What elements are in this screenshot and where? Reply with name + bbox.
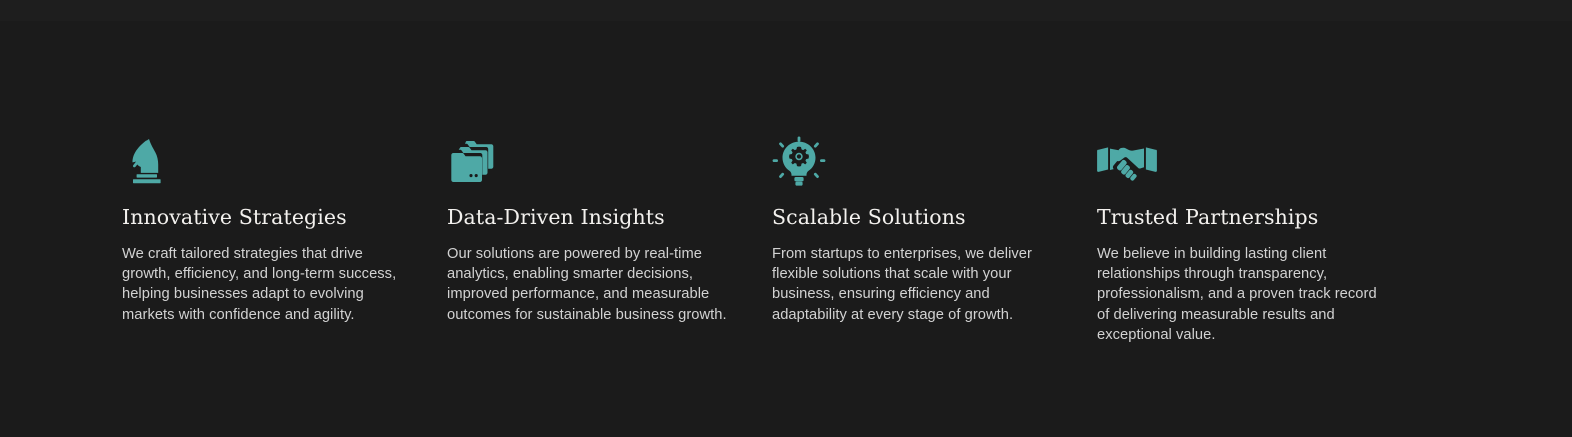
- top-accent-band: [0, 0, 1572, 21]
- feature-card-data-driven-insights: Data-Driven Insights Our solutions are p…: [447, 138, 732, 325]
- feature-description: We believe in building lasting client re…: [1097, 244, 1382, 346]
- features-section: Innovative Strategies We craft tailored …: [0, 0, 1572, 437]
- stacked-folders-icon: [447, 138, 732, 186]
- feature-description: Our solutions are powered by real-time a…: [447, 244, 732, 326]
- feature-description: From startups to enterprises, we deliver…: [772, 244, 1057, 326]
- feature-card-scalable-solutions: Scalable Solutions From startups to ente…: [772, 138, 1057, 325]
- feature-card-trusted-partnerships: Trusted Partnerships We believe in build…: [1097, 138, 1382, 346]
- feature-title: Data-Driven Insights: [447, 206, 732, 230]
- feature-description: We craft tailored strategies that drive …: [122, 244, 407, 326]
- feature-title: Innovative Strategies: [122, 206, 407, 230]
- feature-card-innovative-strategies: Innovative Strategies We craft tailored …: [122, 138, 407, 325]
- chess-knight-icon: [122, 138, 407, 186]
- lightbulb-gear-icon: [772, 138, 1057, 186]
- feature-cards-row: Innovative Strategies We craft tailored …: [122, 138, 1452, 346]
- feature-title: Scalable Solutions: [772, 206, 1057, 230]
- feature-title: Trusted Partnerships: [1097, 206, 1382, 230]
- handshake-icon: [1097, 138, 1382, 186]
